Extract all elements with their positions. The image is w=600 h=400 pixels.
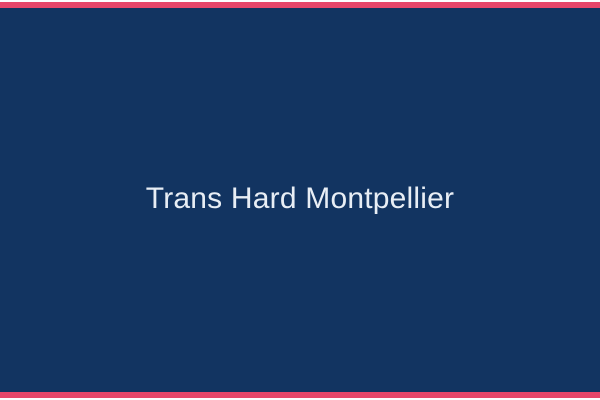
hero-panel: Trans Hard Montpellier xyxy=(0,8,600,392)
accent-rule-bottom xyxy=(0,392,600,398)
page-title: Trans Hard Montpellier xyxy=(146,184,454,214)
banner-canvas: Trans Hard Montpellier xyxy=(0,0,600,400)
